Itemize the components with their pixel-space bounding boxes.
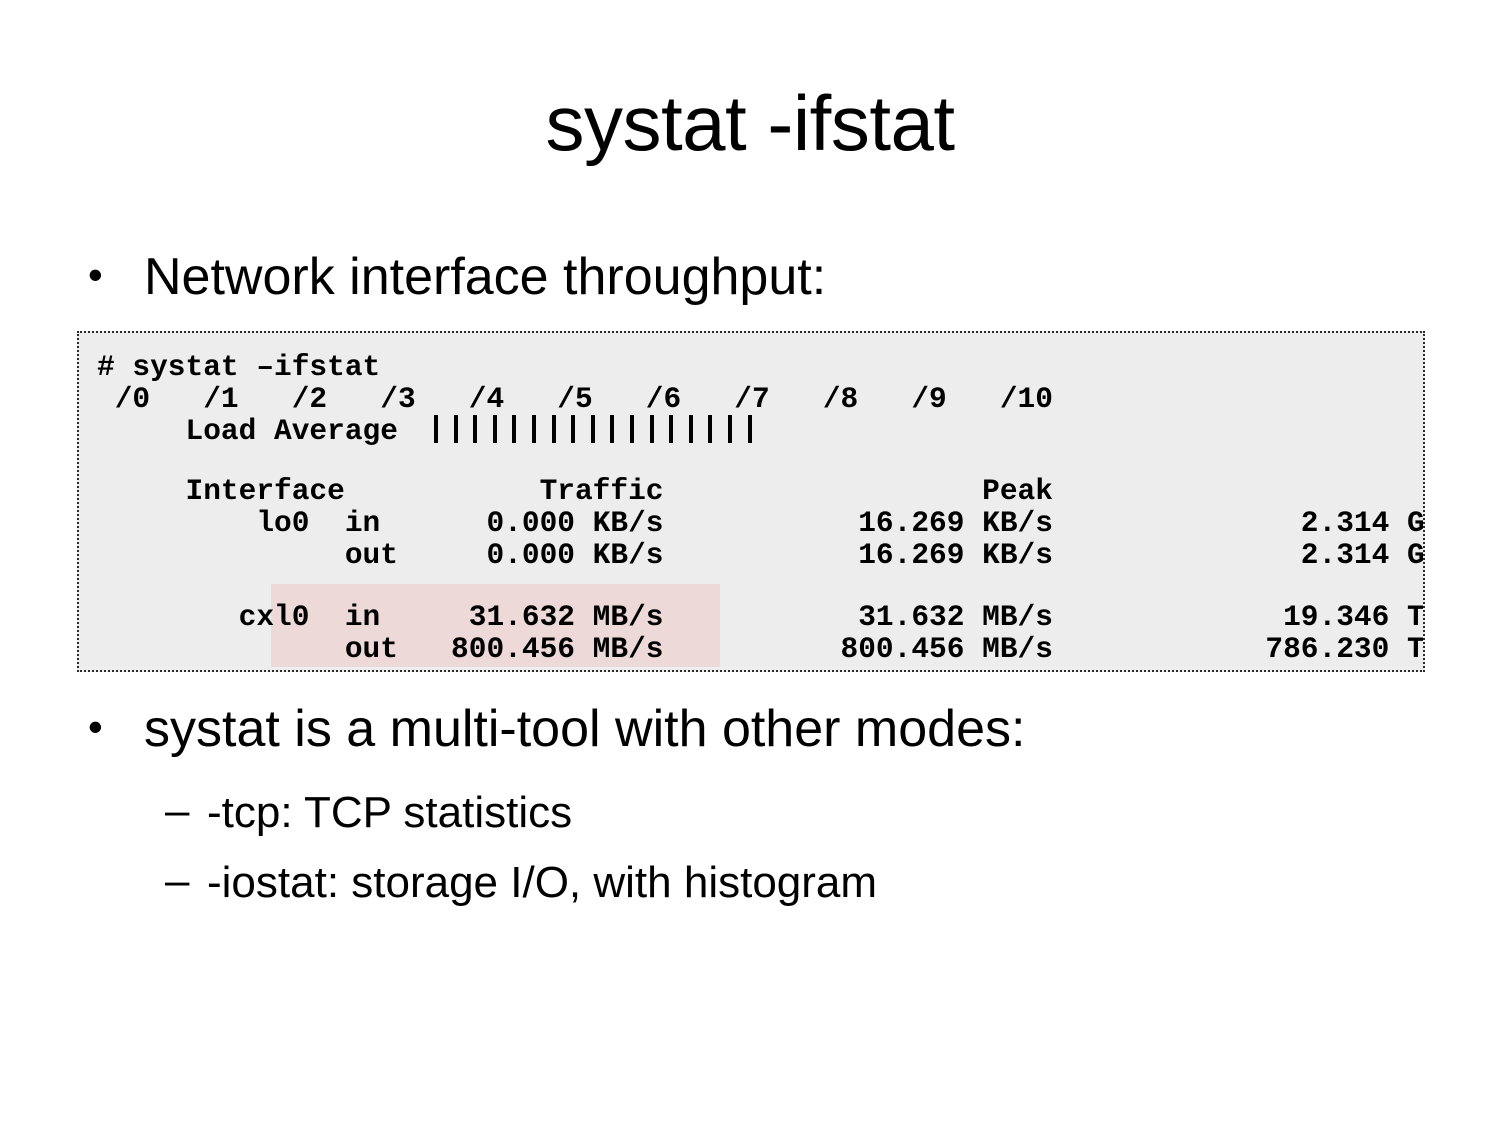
load-average-bar	[623, 413, 643, 443]
bullet-text: -iostat: storage I/O, with histogram	[207, 858, 1435, 909]
load-average-bar	[643, 413, 663, 443]
terminal-load-average-line: Load Average	[97, 415, 398, 447]
table-row: out 800.456 MB/s 800.456 MB/s 786.230 TB	[97, 633, 1425, 665]
dash-marker-icon: –	[165, 788, 207, 834]
terminal-command-line: # systat –ifstat	[97, 351, 380, 383]
load-average-bars-icon	[427, 413, 760, 443]
bullet-network-throughput: • Network interface throughput:	[88, 248, 1428, 308]
bullet-marker-icon: •	[88, 248, 144, 303]
table-row: out 0.000 KB/s 16.269 KB/s 2.314 GB	[97, 539, 1425, 571]
load-average-bar	[525, 413, 545, 443]
load-average-bar	[447, 413, 467, 443]
bullet-systat-multitool: • systat is a multi-tool with other mode…	[88, 700, 1428, 760]
load-average-bar	[505, 413, 525, 443]
bullet-text: systat is a multi-tool with other modes:	[144, 700, 1428, 760]
dash-marker-icon: –	[165, 858, 207, 904]
load-average-bar	[682, 413, 702, 443]
table-row: lo0 in 0.000 KB/s 16.269 KB/s 2.314 GB	[97, 507, 1425, 539]
page-title: systat -ifstat	[0, 82, 1500, 165]
load-average-bar	[466, 413, 486, 443]
load-average-bar	[741, 413, 761, 443]
load-average-bar	[427, 413, 447, 443]
load-average-bar	[486, 413, 506, 443]
bullet-text: Network interface throughput:	[144, 248, 1428, 308]
table-row: cxl0 in 31.632 MB/s 31.632 MB/s 19.346 T…	[97, 601, 1425, 633]
load-average-bar	[721, 413, 741, 443]
bullet-tcp-mode: – -tcp: TCP statistics	[165, 788, 1435, 839]
slide: systat -ifstat • Network interface throu…	[0, 0, 1500, 1125]
load-average-bar	[584, 413, 604, 443]
load-average-bar	[662, 413, 682, 443]
load-average-label: Load Average	[186, 414, 398, 448]
terminal-scale-line: /0 /1 /2 /3 /4 /5 /6 /7 /8 /9 /10	[97, 383, 1053, 415]
load-average-bar	[545, 413, 565, 443]
bullet-marker-icon: •	[88, 700, 144, 755]
terminal-output-block: # systat –ifstat /0 /1 /2 /3 /4 /5 /6 /7…	[77, 331, 1425, 672]
terminal-table-header: Interface Traffic Peak Total	[97, 475, 1425, 507]
bullet-text: -tcp: TCP statistics	[207, 788, 1435, 839]
load-average-bar	[701, 413, 721, 443]
bullet-iostat-mode: – -iostat: storage I/O, with histogram	[165, 858, 1435, 909]
load-average-bar	[564, 413, 584, 443]
load-average-bar	[603, 413, 623, 443]
